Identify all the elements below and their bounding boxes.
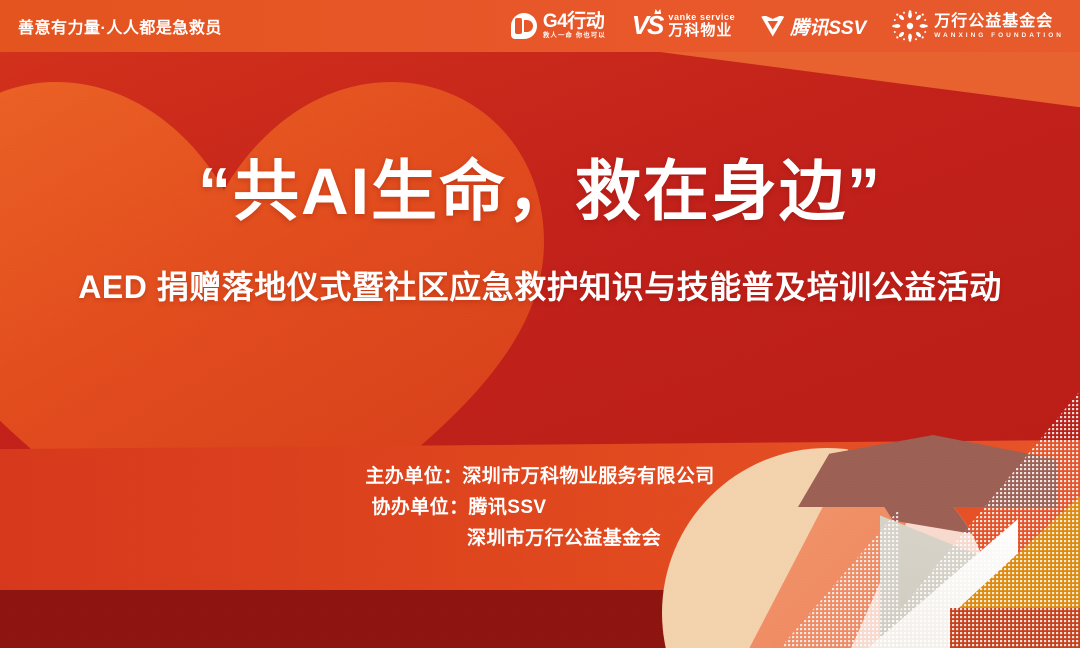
wanxing-logo-text: 万行公益基金会 WANXING FOUNDATION [934, 13, 1064, 40]
header-tagline: 善意有力量·人人都是急救员 [18, 14, 222, 38]
tencent-penguin-mark-icon [761, 16, 784, 37]
vanke-logo-text: vanke service 万科物业 [668, 13, 735, 39]
g4-droplet-icon [511, 13, 537, 39]
tencent-ssv-logo: 腾讯SSV [761, 13, 866, 40]
vanke-vs-icon: VS [632, 12, 663, 38]
vanke-logo-cn: 万科物业 [668, 23, 735, 40]
g4-logo-text: G4行动 救人一命 你也可以 [543, 12, 606, 40]
vanke-service-logo: VS vanke service 万科物业 [632, 13, 736, 39]
wanxing-logo-cn: 万行公益基金会 [934, 13, 1064, 31]
poster-title: “共AI生命，救在身边” [0, 158, 1080, 224]
organizer-host-line: 主办单位：深圳市万科物业服务有限公司 [0, 462, 1080, 493]
g4-logo: G4行动 救人一命 你也可以 [511, 12, 606, 40]
organizer-coorg-line: 协办单位：腾讯SSV [0, 493, 1080, 524]
event-poster: 善意有力量·人人都是急救员 G4行动 救人一命 你也可以 VS vanke se… [0, 0, 1080, 648]
g4-logo-sub: 救人一命 你也可以 [543, 33, 606, 40]
wanxing-burst-icon [892, 10, 928, 42]
organizer-block: 主办单位：深圳市万科物业服务有限公司 协办单位：腾讯SSV 深圳市万行公益基金会 [0, 462, 1080, 554]
wanxing-logo-en: WANXING FOUNDATION [934, 32, 1064, 39]
g4-logo-main: G4行动 [543, 12, 606, 31]
poster-content: “共AI生命，救在身边” AED 捐赠落地仪式暨社区应急救护知识与技能普及培训公… [0, 0, 1080, 648]
organizer-coorg-line-2: 深圳市万行公益基金会 [0, 524, 1080, 555]
poster-header-bar: 善意有力量·人人都是急救员 G4行动 救人一命 你也可以 VS vanke se… [0, 0, 1080, 52]
partner-logo-row: G4行动 救人一命 你也可以 VS vanke service 万科物业 腾讯S… [511, 10, 1080, 42]
tencent-ssv-text: 腾讯SSV [790, 13, 866, 40]
wanxing-foundation-logo: 万行公益基金会 WANXING FOUNDATION [892, 10, 1064, 42]
poster-subtitle: AED 捐赠落地仪式暨社区应急救护知识与技能普及培训公益活动 [0, 268, 1080, 306]
